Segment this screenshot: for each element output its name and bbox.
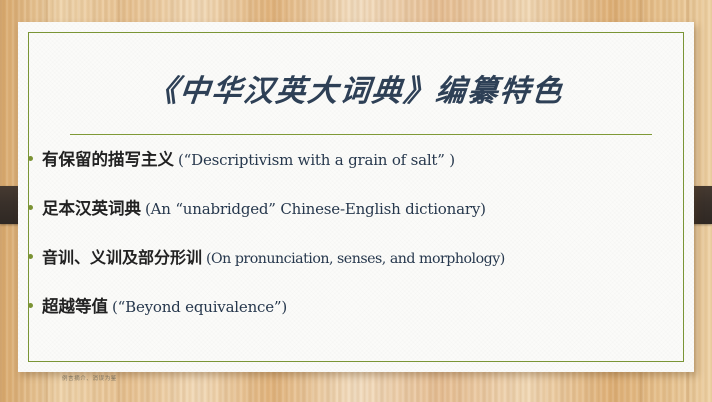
bullet-chinese-label: 音训、义训及部分形训 [42,248,202,267]
bullet-english-gloss: (An “unabridged” Chinese-English diction… [145,200,486,218]
bullet-text: 足本汉英词典(An “unabridged” Chinese-English d… [42,195,688,219]
bullet-english-gloss: (On pronunciation, senses, and morpholog… [206,251,505,267]
bullet-chinese-label: 有保留的描写主义 [42,150,174,169]
bullet-text: 有保留的描写主义(“Descriptivism with a grain of … [42,146,688,170]
title-divider [70,134,652,135]
bullet-dot-icon [28,205,33,210]
bullet-dot-icon [28,156,33,161]
list-item: 足本汉英词典(An “unabridged” Chinese-English d… [26,195,688,244]
bullet-list: 有保留的描写主义(“Descriptivism with a grain of … [26,146,688,342]
bullet-english-gloss: (“Descriptivism with a grain of salt” ) [178,151,455,169]
bullet-text: 超越等值(“Beyond equivalence”) [42,293,688,317]
bullet-text: 音训、义训及部分形训(On pronunciation, senses, and… [42,244,688,268]
bullet-dot-icon [28,303,33,308]
slide-title: 《中华汉英大词典》编纂特色 [16,66,697,110]
bullet-chinese-label: 足本汉英词典 [42,199,141,218]
bullet-chinese-label: 超越等值 [42,297,108,316]
list-item: 超越等值(“Beyond equivalence”) [26,293,688,342]
list-item: 音训、义训及部分形训(On pronunciation, senses, and… [26,244,688,293]
bullet-dot-icon [28,254,33,259]
slide-footnote: 例言摘介、消误为鉴 [62,374,117,382]
slide-content-card: 《中华汉英大词典》编纂特色 有保留的描写主义(“Descriptivism wi… [18,22,694,372]
bullet-english-gloss: (“Beyond equivalence”) [112,298,287,316]
list-item: 有保留的描写主义(“Descriptivism with a grain of … [26,146,688,195]
presentation-slide: 《中华汉英大词典》编纂特色 有保留的描写主义(“Descriptivism wi… [0,0,712,402]
